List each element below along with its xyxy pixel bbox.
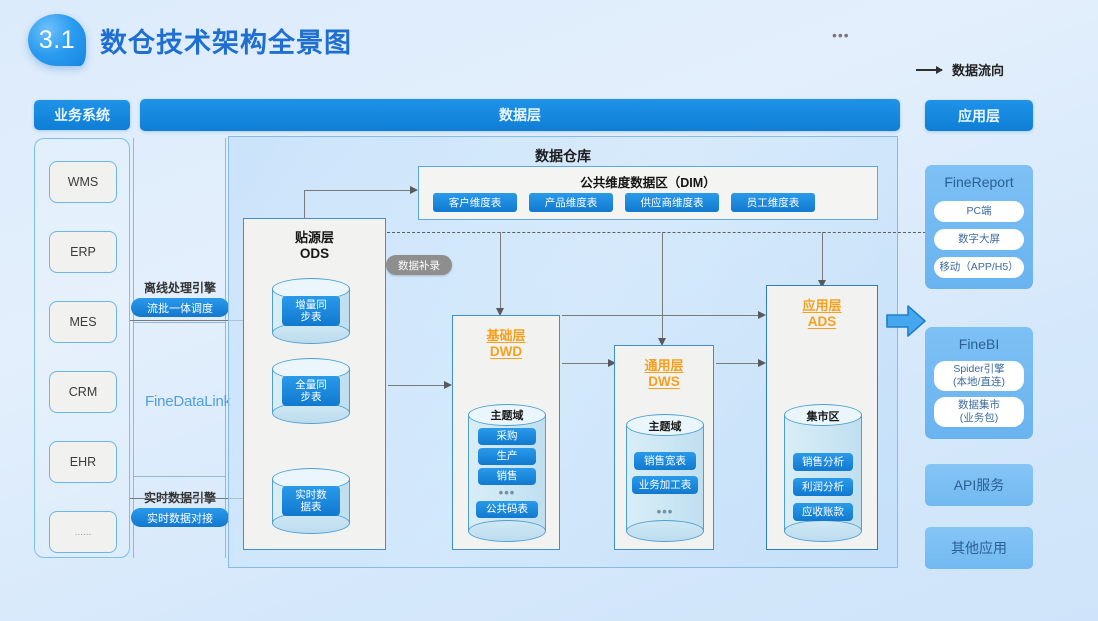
dwd-item-production[interactable]: 生产 — [478, 448, 536, 465]
finereport-item-dashboard[interactable]: 数字大屏 — [934, 229, 1024, 250]
dim-chip-product[interactable]: 产品维度表 — [529, 193, 613, 212]
realtime-engine-pill[interactable]: 实时数据对接 — [131, 508, 229, 527]
engine-divider-top — [133, 322, 226, 323]
dim-chip-employee[interactable]: 员工维度表 — [731, 193, 815, 212]
arrow-right-icon — [916, 69, 942, 71]
ods-table-full[interactable]: 全量同 步表 — [282, 376, 340, 406]
ads-cylinder-caption: 集市区 — [807, 408, 840, 424]
dwd-name-en: DWD — [453, 344, 559, 359]
ods-layer-title: 贴源层 ODS — [244, 227, 385, 261]
dws-cylinder-caption: 主题域 — [649, 418, 682, 434]
dws-to-ads-arrow — [758, 359, 766, 367]
dwd-cylinder-subject: 主题域 采购 生产 销售 ••• 公共码表 — [468, 404, 546, 542]
business-systems-header: 业务系统 — [34, 100, 130, 130]
section-title-text: 数仓技术架构全景图 — [100, 21, 352, 60]
data-layer-header: 数据层 — [140, 99, 900, 131]
engine-divider-bottom — [133, 476, 226, 477]
business-systems-box: WMS ERP MES CRM EHR ...... — [34, 138, 130, 558]
dim-to-dws-line — [662, 232, 663, 340]
business-item-ehr[interactable]: EHR — [49, 441, 117, 483]
dwd-to-ads-arrow — [758, 311, 766, 319]
dwd-name-cn: 基础层 — [453, 325, 559, 344]
business-item-crm[interactable]: CRM — [49, 371, 117, 413]
dws-name-cn: 通用层 — [615, 355, 713, 374]
ads-name-cn: 应用层 — [767, 295, 877, 314]
page-title: 3.1 数仓技术架构全景图 — [28, 14, 352, 66]
dws-more-dots: ••• — [657, 504, 674, 519]
dws-layer-title: 通用层 DWS — [615, 355, 713, 389]
backfill-pill: 数据补录 — [386, 255, 452, 275]
ods-cylinder-incremental: 增量同 步表 — [272, 278, 350, 344]
dim-more-dots: ••• — [832, 27, 850, 43]
ads-item-receivables[interactable]: 应收账款 — [793, 503, 853, 521]
finebi-item-spider[interactable]: Spider引擎 (本地/直连) — [934, 361, 1024, 391]
finedatalink-logo: FineDataLink — [138, 393, 238, 410]
finereport-item-pc[interactable]: PC端 — [934, 201, 1024, 222]
dws-name-en: DWS — [615, 374, 713, 389]
business-item-wms[interactable]: WMS — [49, 161, 117, 203]
dwd-to-dws-line — [562, 363, 612, 364]
offline-engine-pill[interactable]: 流批一体调度 — [131, 298, 229, 317]
dwd-item-common-code[interactable]: 公共码表 — [476, 501, 538, 518]
dws-cylinder-subject: 主题域 销售宽表 业务加工表 ••• — [626, 414, 704, 542]
other-apps-card[interactable]: 其他应用 — [925, 527, 1033, 569]
ods-name-en: ODS — [244, 246, 385, 261]
finereport-card: FineReport PC端 数字大屏 移动（APP/H5） — [925, 165, 1033, 289]
business-item-erp[interactable]: ERP — [49, 231, 117, 273]
business-item-more[interactable]: ...... — [49, 511, 117, 553]
dws-item-business-process[interactable]: 业务加工表 — [632, 476, 698, 494]
ods-to-dim-hline — [304, 190, 412, 191]
dim-zone-title: 公共维度数据区（DIM） — [419, 172, 877, 191]
legend-label: 数据流向 — [952, 60, 1004, 79]
ads-to-app-big-arrow-icon — [886, 304, 926, 338]
diagram-canvas: 3.1 数仓技术架构全景图 数据流向 业务系统 WMS ERP MES CRM … — [0, 0, 1098, 621]
ods-table-realtime[interactable]: 实时数 据表 — [282, 486, 340, 516]
finebi-title: FineBI — [925, 336, 1033, 352]
ods-to-dim-arrow — [410, 186, 418, 194]
dwd-more-dots: ••• — [499, 488, 516, 498]
section-number-badge: 3.1 — [28, 14, 86, 66]
dwd-item-sales[interactable]: 销售 — [478, 468, 536, 485]
ods-name-cn: 贴源层 — [244, 227, 385, 246]
dim-zone-box: 公共维度数据区（DIM） 客户维度表 产品维度表 供应商维度表 员工维度表 — [418, 166, 878, 220]
ods-to-dwd-arrow — [444, 381, 452, 389]
api-service-card[interactable]: API服务 — [925, 464, 1033, 506]
finebi-item-datamart[interactable]: 数据集市 (业务包) — [934, 397, 1024, 427]
ads-item-sales-analysis[interactable]: 销售分析 — [793, 453, 853, 471]
finereport-title: FineReport — [925, 174, 1033, 190]
ads-layer-title: 应用层 ADS — [767, 295, 877, 329]
ads-cylinder-mart: 集市区 销售分析 利润分析 应收账款 — [784, 404, 862, 542]
data-warehouse-title: 数据仓库 — [229, 146, 897, 166]
dim-to-ads-line — [822, 232, 823, 282]
ods-cylinder-realtime: 实时数 据表 — [272, 468, 350, 534]
dwd-cylinder-caption: 主题域 — [491, 407, 524, 423]
ods-table-incremental[interactable]: 增量同 步表 — [282, 296, 340, 326]
dim-to-dwd-line — [500, 232, 501, 310]
legend-data-flow: 数据流向 — [916, 60, 1004, 79]
ods-to-dwd-line — [388, 385, 446, 386]
offline-engine-caption: 离线处理引擎 — [120, 279, 240, 296]
finereport-item-mobile[interactable]: 移动（APP/H5） — [934, 257, 1024, 278]
dws-item-sales-wide[interactable]: 销售宽表 — [634, 452, 696, 470]
ads-item-profit-analysis[interactable]: 利润分析 — [793, 478, 853, 496]
ods-cylinder-full: 全量同 步表 — [272, 358, 350, 424]
application-layer-header: 应用层 — [925, 100, 1033, 131]
dim-chip-supplier[interactable]: 供应商维度表 — [625, 193, 719, 212]
finebi-card: FineBI Spider引擎 (本地/直连) 数据集市 (业务包) — [925, 327, 1033, 439]
dim-chip-customer[interactable]: 客户维度表 — [433, 193, 517, 212]
dws-to-ads-line — [716, 363, 762, 364]
business-item-mes[interactable]: MES — [49, 301, 117, 343]
ads-name-en: ADS — [767, 314, 877, 329]
dwd-layer-title: 基础层 DWD — [453, 325, 559, 359]
backfill-dashed-line — [382, 232, 936, 233]
dwd-item-procurement[interactable]: 采购 — [478, 428, 536, 445]
